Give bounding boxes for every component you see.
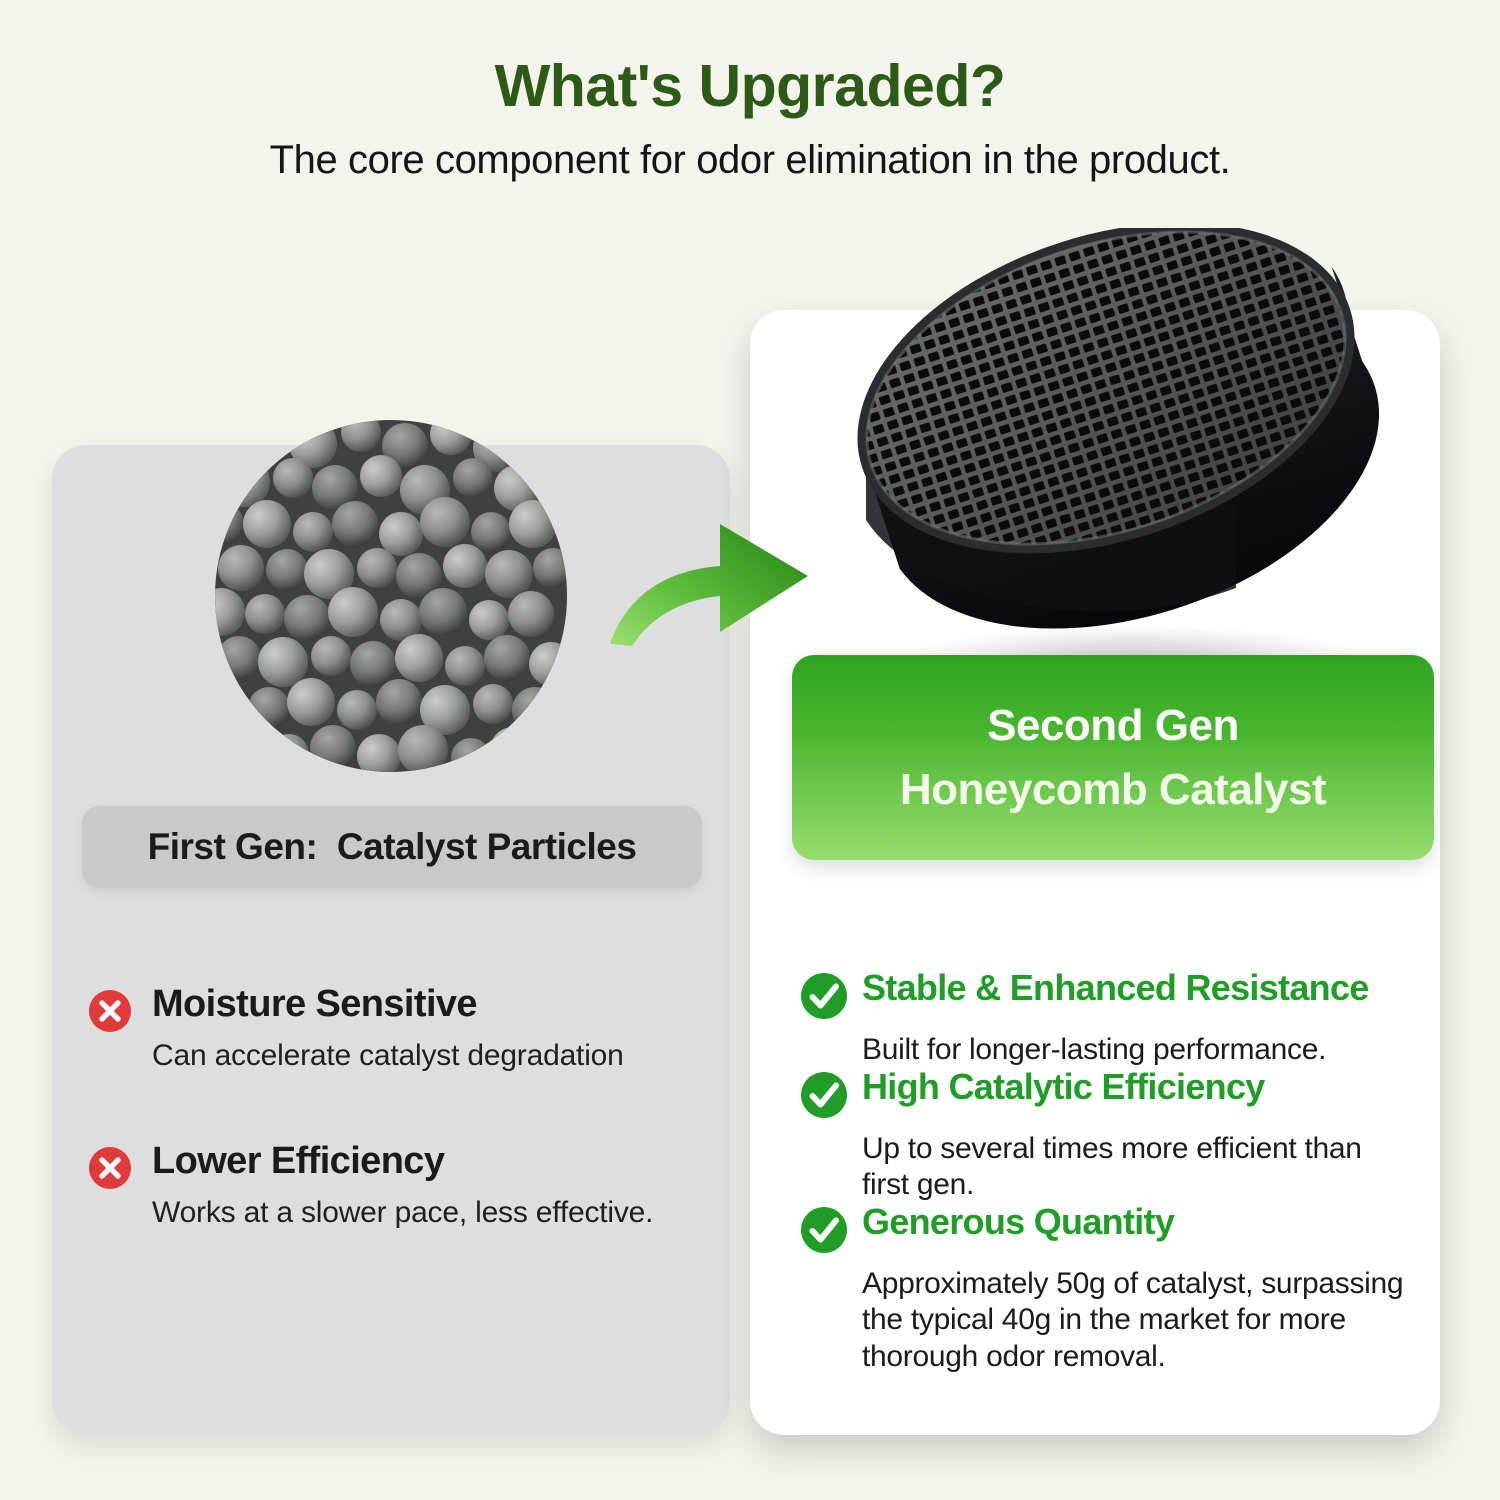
- list-item-description: Up to several times more efficient than …: [862, 1131, 1392, 1204]
- first-gen-drawbacks-list: Moisture Sensitive Can accelerate cataly…: [88, 985, 708, 1231]
- list-item: Lower Efficiency Works at a slower pace,…: [88, 1142, 708, 1231]
- list-item: Generous Quantity: [800, 1204, 1450, 1254]
- header: What's Upgraded? The core component for …: [0, 0, 1500, 183]
- page-subtitle: The core component for odor elimination …: [0, 120, 1500, 183]
- page-title: What's Upgraded?: [0, 0, 1500, 120]
- first-gen-badge: First Gen: Catalyst Particles: [82, 806, 702, 888]
- second-gen-banner-line1: Second Gen: [987, 704, 1239, 748]
- second-gen-benefits-list: Stable & Enhanced Resistance Built for l…: [800, 970, 1450, 1376]
- second-gen-banner: Second Gen Honeycomb Catalyst: [792, 655, 1434, 860]
- list-item-title: Lower Efficiency: [152, 1142, 708, 1180]
- check-circle-icon: [800, 972, 848, 1020]
- list-item: High Catalytic Efficiency: [800, 1069, 1450, 1119]
- list-item: Moisture Sensitive Can accelerate cataly…: [88, 985, 708, 1074]
- second-gen-banner-line2: Honeycomb Catalyst: [900, 768, 1326, 812]
- list-item-title: Generous Quantity: [862, 1204, 1174, 1240]
- x-circle-icon: [88, 989, 132, 1033]
- list-item-title: Moisture Sensitive: [152, 985, 708, 1023]
- first-gen-badge-label: First Gen: Catalyst Particles: [148, 826, 637, 868]
- list-item-description: Built for longer-lasting performance.: [862, 1032, 1450, 1069]
- list-item-title: Stable & Enhanced Resistance: [862, 970, 1369, 1006]
- list-item-description: Approximately 50g of catalyst, surpassin…: [862, 1266, 1450, 1376]
- check-circle-icon: [800, 1206, 848, 1254]
- list-item: Stable & Enhanced Resistance: [800, 970, 1450, 1020]
- honeycomb-catalyst-photo: [806, 228, 1406, 698]
- list-item-title: High Catalytic Efficiency: [862, 1069, 1265, 1105]
- list-item-description: Can accelerate catalyst degradation: [152, 1037, 708, 1074]
- x-circle-icon: [88, 1146, 132, 1190]
- catalyst-particles-photo: [215, 420, 567, 772]
- list-item-description: Works at a slower pace, less effective.: [152, 1194, 708, 1231]
- curved-arrow-right-icon: [608, 492, 813, 647]
- check-circle-icon: [800, 1071, 848, 1119]
